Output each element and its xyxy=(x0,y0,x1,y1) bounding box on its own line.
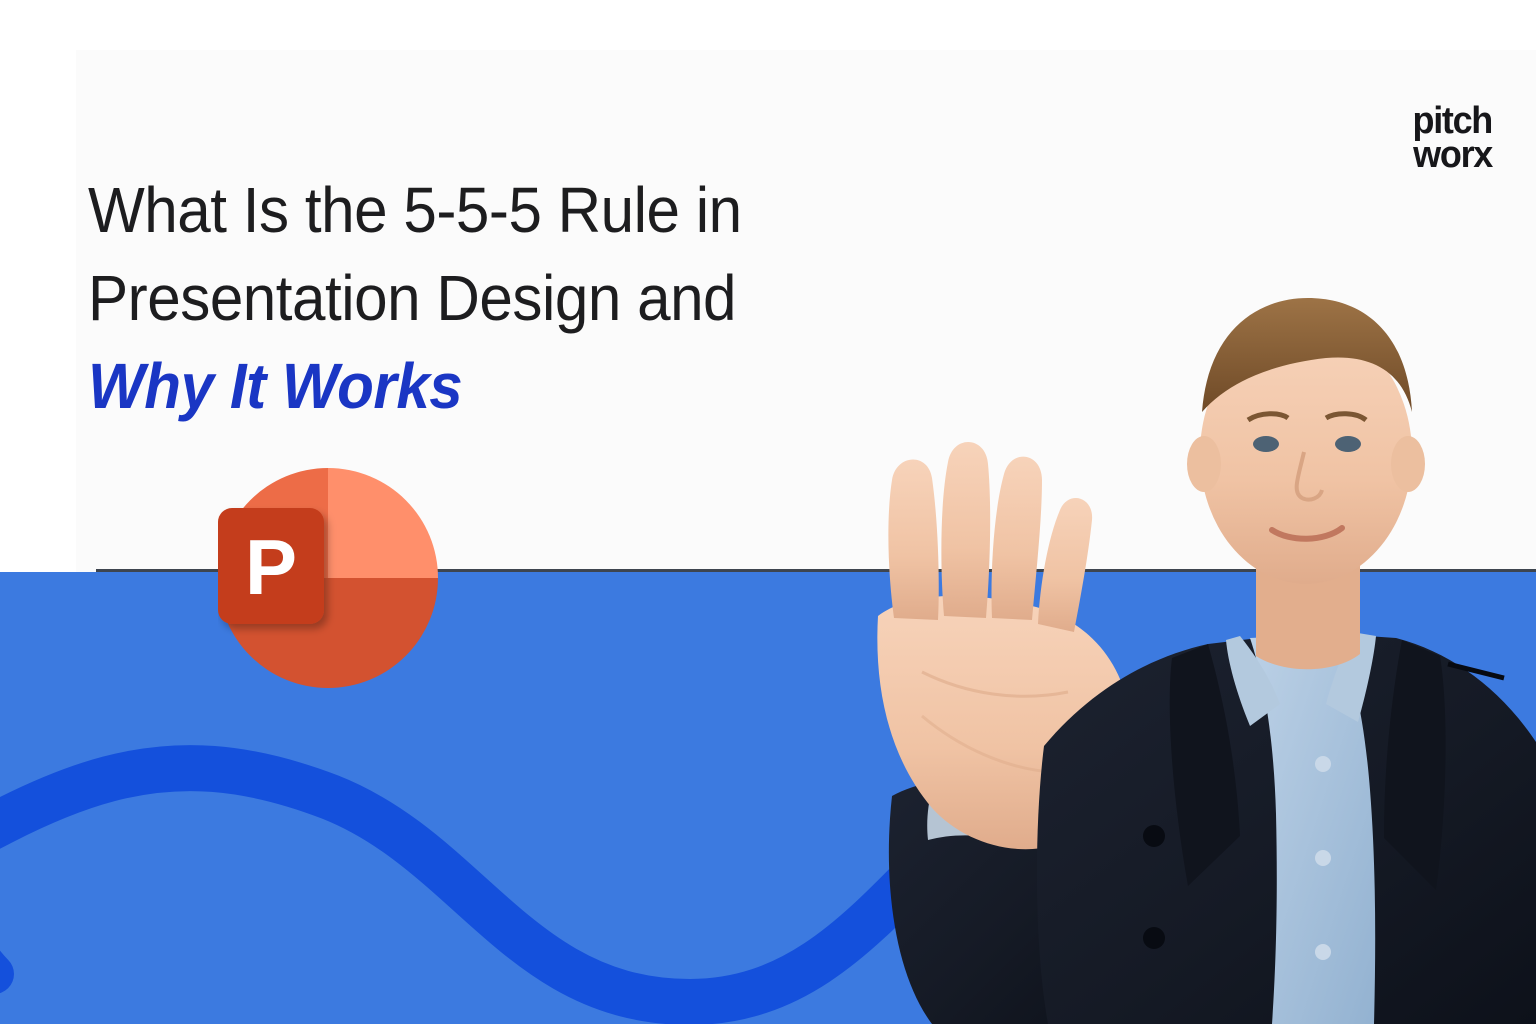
finger-ring xyxy=(992,457,1043,620)
powerpoint-icon: P xyxy=(218,468,444,688)
ear-left xyxy=(1187,436,1221,492)
title-line-3-accent: Why It Works xyxy=(88,342,831,430)
eye-right xyxy=(1335,436,1361,452)
quadrant-top-right xyxy=(328,468,444,578)
eye-left xyxy=(1253,436,1279,452)
title-line-1: What Is the 5-5-5 Rule in xyxy=(88,166,831,254)
finger-index xyxy=(888,459,938,620)
finger-little xyxy=(1038,498,1092,632)
title-line-2: Presentation Design and xyxy=(88,254,831,342)
presenter-photo xyxy=(836,186,1536,1024)
shirt-button-2 xyxy=(1315,850,1331,866)
finger-middle xyxy=(941,442,990,618)
shirt-button-3 xyxy=(1315,944,1331,960)
jacket-button-1 xyxy=(1143,825,1165,847)
brand-logo[interactable]: pitch worx xyxy=(1413,104,1493,172)
banner-canvas: What Is the 5-5-5 Rule in Presentation D… xyxy=(0,0,1536,1024)
ear-right xyxy=(1391,436,1425,492)
page-title: What Is the 5-5-5 Rule in Presentation D… xyxy=(88,166,878,430)
logo-line-worx: worx xyxy=(1413,136,1493,172)
powerpoint-letter: P xyxy=(245,523,297,611)
jacket-button-2 xyxy=(1143,927,1165,949)
torso xyxy=(1037,632,1536,1024)
shirt-button-1 xyxy=(1315,756,1331,772)
head xyxy=(1187,298,1425,584)
